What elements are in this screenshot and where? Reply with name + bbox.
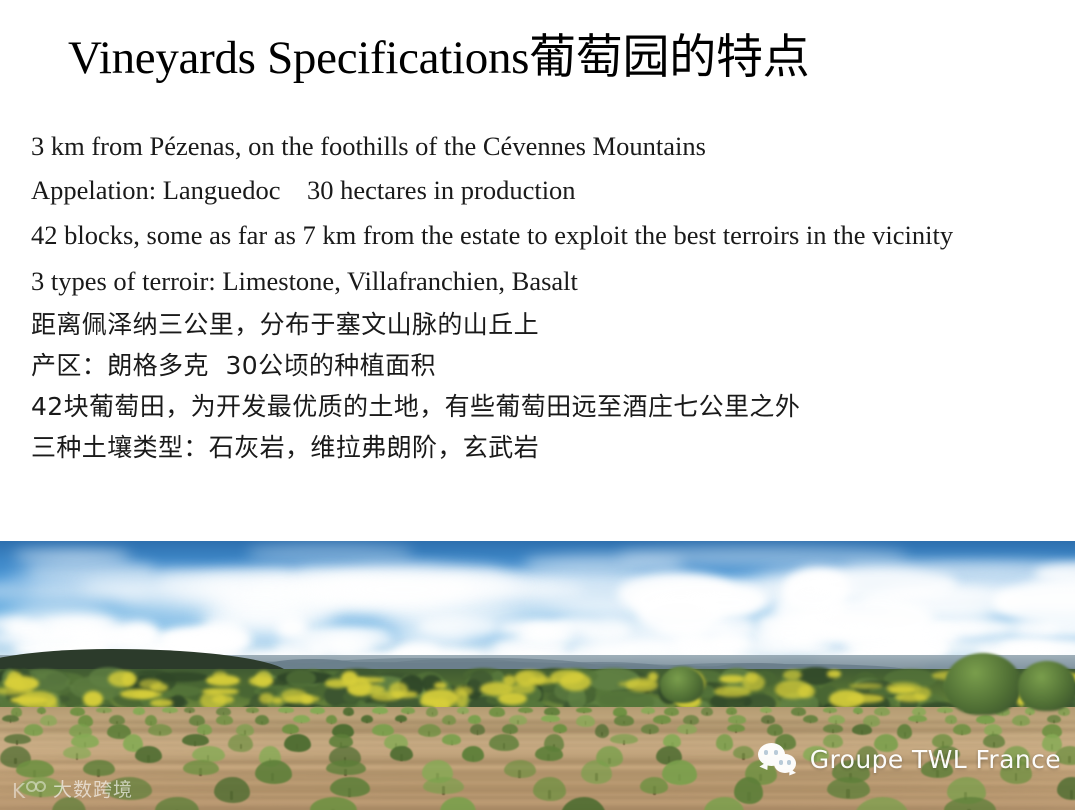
- vine-plant: [1047, 715, 1060, 723]
- body-line-appelation-zh: 产区：朗格多克 30公顷的种植面积: [31, 353, 1041, 378]
- broom-flower-clump: [420, 698, 439, 707]
- vine-plant: [214, 777, 249, 803]
- vine-plant: [401, 707, 416, 714]
- vine-plant: [677, 724, 697, 734]
- broom-flower-clump: [150, 699, 172, 708]
- vine-plant: [216, 715, 233, 725]
- broom-flower-clump: [648, 672, 658, 682]
- vine-plant: [701, 707, 713, 716]
- vine-plant: [576, 715, 595, 727]
- soil-furrow: [0, 737, 1075, 740]
- vine-plant: [908, 715, 927, 722]
- vine-plant: [133, 707, 146, 715]
- vine-plant: [581, 760, 612, 784]
- vine-plant: [284, 734, 311, 752]
- vine-plant: [541, 715, 559, 722]
- vine-plant: [976, 715, 995, 724]
- vine-plant: [343, 707, 354, 716]
- vine-plant: [502, 724, 518, 734]
- vine-plant: [330, 777, 371, 797]
- broom-flower-clump: [341, 671, 358, 686]
- vine-plant: [662, 760, 698, 785]
- broom-flower-clump: [255, 671, 272, 687]
- vine-plant: [457, 707, 469, 714]
- broom-flower-clump: [714, 686, 751, 697]
- vine-plant: [1057, 777, 1075, 800]
- vine-plant: [246, 707, 259, 713]
- vine-plant: [610, 734, 638, 744]
- vine-plant: [874, 707, 890, 716]
- photo-tree-right: [945, 653, 1021, 715]
- vine-plant: [803, 715, 819, 723]
- vine-plant: [162, 707, 178, 713]
- vine-plant: [533, 777, 566, 801]
- body-line-appelation: Appelation: Languedoc 30 hectares in pro…: [31, 177, 1041, 204]
- body-line-blocks-zh: 42块葡萄田，为开发最优质的土地，有些葡萄田远至酒庄七公里之外: [31, 394, 1041, 419]
- body-line-terroir-types-zh: 三种土壤类型：石灰岩，维拉弗朗阶，玄武岩: [31, 435, 1041, 460]
- vine-plant: [726, 707, 737, 715]
- vine-plant: [372, 707, 388, 714]
- vine-plant: [953, 724, 971, 735]
- vine-plant: [945, 715, 957, 724]
- cloud-puff: [248, 544, 413, 562]
- vine-plant: [716, 734, 734, 751]
- wechat-icon: [758, 743, 800, 775]
- vine-plant: [470, 724, 485, 735]
- photo-tree-mid: [660, 667, 704, 703]
- dashukuajing-watermark: K 大数跨境: [12, 775, 133, 802]
- vine-plant: [293, 715, 311, 723]
- vine-plant: [4, 734, 31, 744]
- vine-plant: [553, 724, 568, 733]
- vine-plant: [255, 760, 292, 784]
- vine-plant: [664, 707, 679, 716]
- broom-flower-clump: [895, 693, 927, 702]
- broom-flower-clump: [122, 673, 134, 686]
- photo-tree-right-2: [1018, 661, 1075, 711]
- vine-plant: [1012, 715, 1030, 726]
- vine-plant: [827, 777, 870, 799]
- vine-plant: [418, 724, 441, 737]
- vine-plant: [282, 724, 299, 734]
- page-title: Vineyards Specifications葡萄园的特点: [68, 32, 809, 85]
- vine-plant: [442, 715, 456, 725]
- vine-plant: [310, 707, 325, 714]
- vine-plant: [489, 734, 518, 751]
- vine-plant: [576, 707, 592, 713]
- vine-plant: [733, 746, 754, 759]
- vine-plant: [326, 715, 338, 724]
- vine-plant: [823, 707, 838, 713]
- broom-flower-clump: [849, 683, 883, 689]
- vine-plant: [426, 707, 438, 717]
- vine-plant: [937, 707, 953, 713]
- vine-plant: [509, 715, 527, 725]
- vine-plant: [326, 760, 367, 775]
- vineyard-photo: Groupe TWL France K 大数跨境: [0, 541, 1075, 810]
- vine-plant: [423, 777, 464, 794]
- dsk-logo-icon: K: [12, 778, 46, 800]
- cloud-puff: [692, 590, 757, 615]
- vine-plant: [640, 777, 669, 794]
- cloud-puff: [418, 616, 499, 638]
- vine-plant: [361, 715, 373, 723]
- wechat-watermark: Groupe TWL France: [758, 743, 1061, 775]
- cloud-puff: [929, 623, 984, 635]
- vine-plant: [63, 746, 91, 759]
- vine-plant: [897, 724, 912, 739]
- vine-plant: [535, 746, 563, 761]
- vine-plant: [24, 724, 43, 736]
- cloud-puff: [584, 620, 631, 642]
- vine-plant: [761, 715, 775, 724]
- vine-plant: [135, 746, 162, 763]
- cloud-puff: [619, 547, 907, 567]
- vine-plant: [40, 715, 57, 726]
- vine-plant: [83, 760, 115, 776]
- vine-plant: [828, 715, 845, 724]
- broom-flower-clump: [14, 681, 26, 689]
- body-line-location-zh: 距离佩泽纳三公里，分布于塞文山脉的山丘上: [31, 312, 1041, 337]
- broom-flower-clump: [847, 694, 884, 702]
- broom-flower-clump: [618, 681, 653, 687]
- slide-canvas: Vineyards Specifications葡萄园的特点 3 km from…: [0, 0, 1080, 810]
- broom-flower-clump: [827, 670, 842, 678]
- vine-plant: [278, 707, 294, 713]
- body-line-blocks: 42 blocks, some as far as 7 km from the …: [31, 220, 1041, 251]
- vine-plant: [504, 760, 537, 778]
- vine-plant: [641, 707, 655, 714]
- vine-plant: [791, 707, 806, 716]
- vine-plant: [255, 715, 269, 725]
- vine-plant: [37, 707, 46, 714]
- vine-plant: [614, 715, 634, 726]
- vine-plant: [462, 746, 484, 762]
- vine-plant: [390, 746, 412, 761]
- vine-plant: [395, 715, 407, 722]
- vine-plant: [184, 707, 195, 713]
- broom-flower-clump: [283, 695, 320, 703]
- scrub-bush: [286, 670, 316, 687]
- broom-flower-clump: [498, 692, 527, 705]
- vine-plant: [823, 724, 843, 733]
- body-text-block: 3 km from Pézenas, on the foothills of t…: [31, 133, 1041, 476]
- vine-plant: [728, 715, 747, 724]
- vine-plant: [852, 724, 872, 735]
- broom-flower-clump: [512, 683, 536, 694]
- body-line-terroir-types: 3 types of terroir: Limestone, Villafran…: [31, 268, 1041, 295]
- body-line-location: 3 km from Pézenas, on the foothills of t…: [31, 133, 1041, 160]
- vine-plant: [489, 707, 504, 717]
- dashukuajing-label: 大数跨境: [53, 775, 133, 802]
- vine-plant: [595, 724, 610, 738]
- vine-plant: [148, 724, 172, 736]
- wechat-watermark-label: Groupe TWL France: [810, 745, 1061, 774]
- vine-plant: [468, 715, 481, 724]
- vine-plant: [727, 724, 745, 732]
- vine-plant: [734, 777, 763, 804]
- cloud-puff: [80, 576, 244, 602]
- cloud-puff: [14, 550, 129, 562]
- vine-plant: [442, 734, 461, 745]
- vine-plant: [96, 707, 111, 713]
- broom-flower-clump: [798, 685, 815, 698]
- vine-plant: [653, 715, 672, 724]
- vine-plant: [853, 707, 863, 714]
- vine-plant: [228, 734, 253, 752]
- vine-plant: [182, 734, 209, 746]
- vine-plant: [641, 724, 659, 734]
- vine-plant: [183, 760, 219, 775]
